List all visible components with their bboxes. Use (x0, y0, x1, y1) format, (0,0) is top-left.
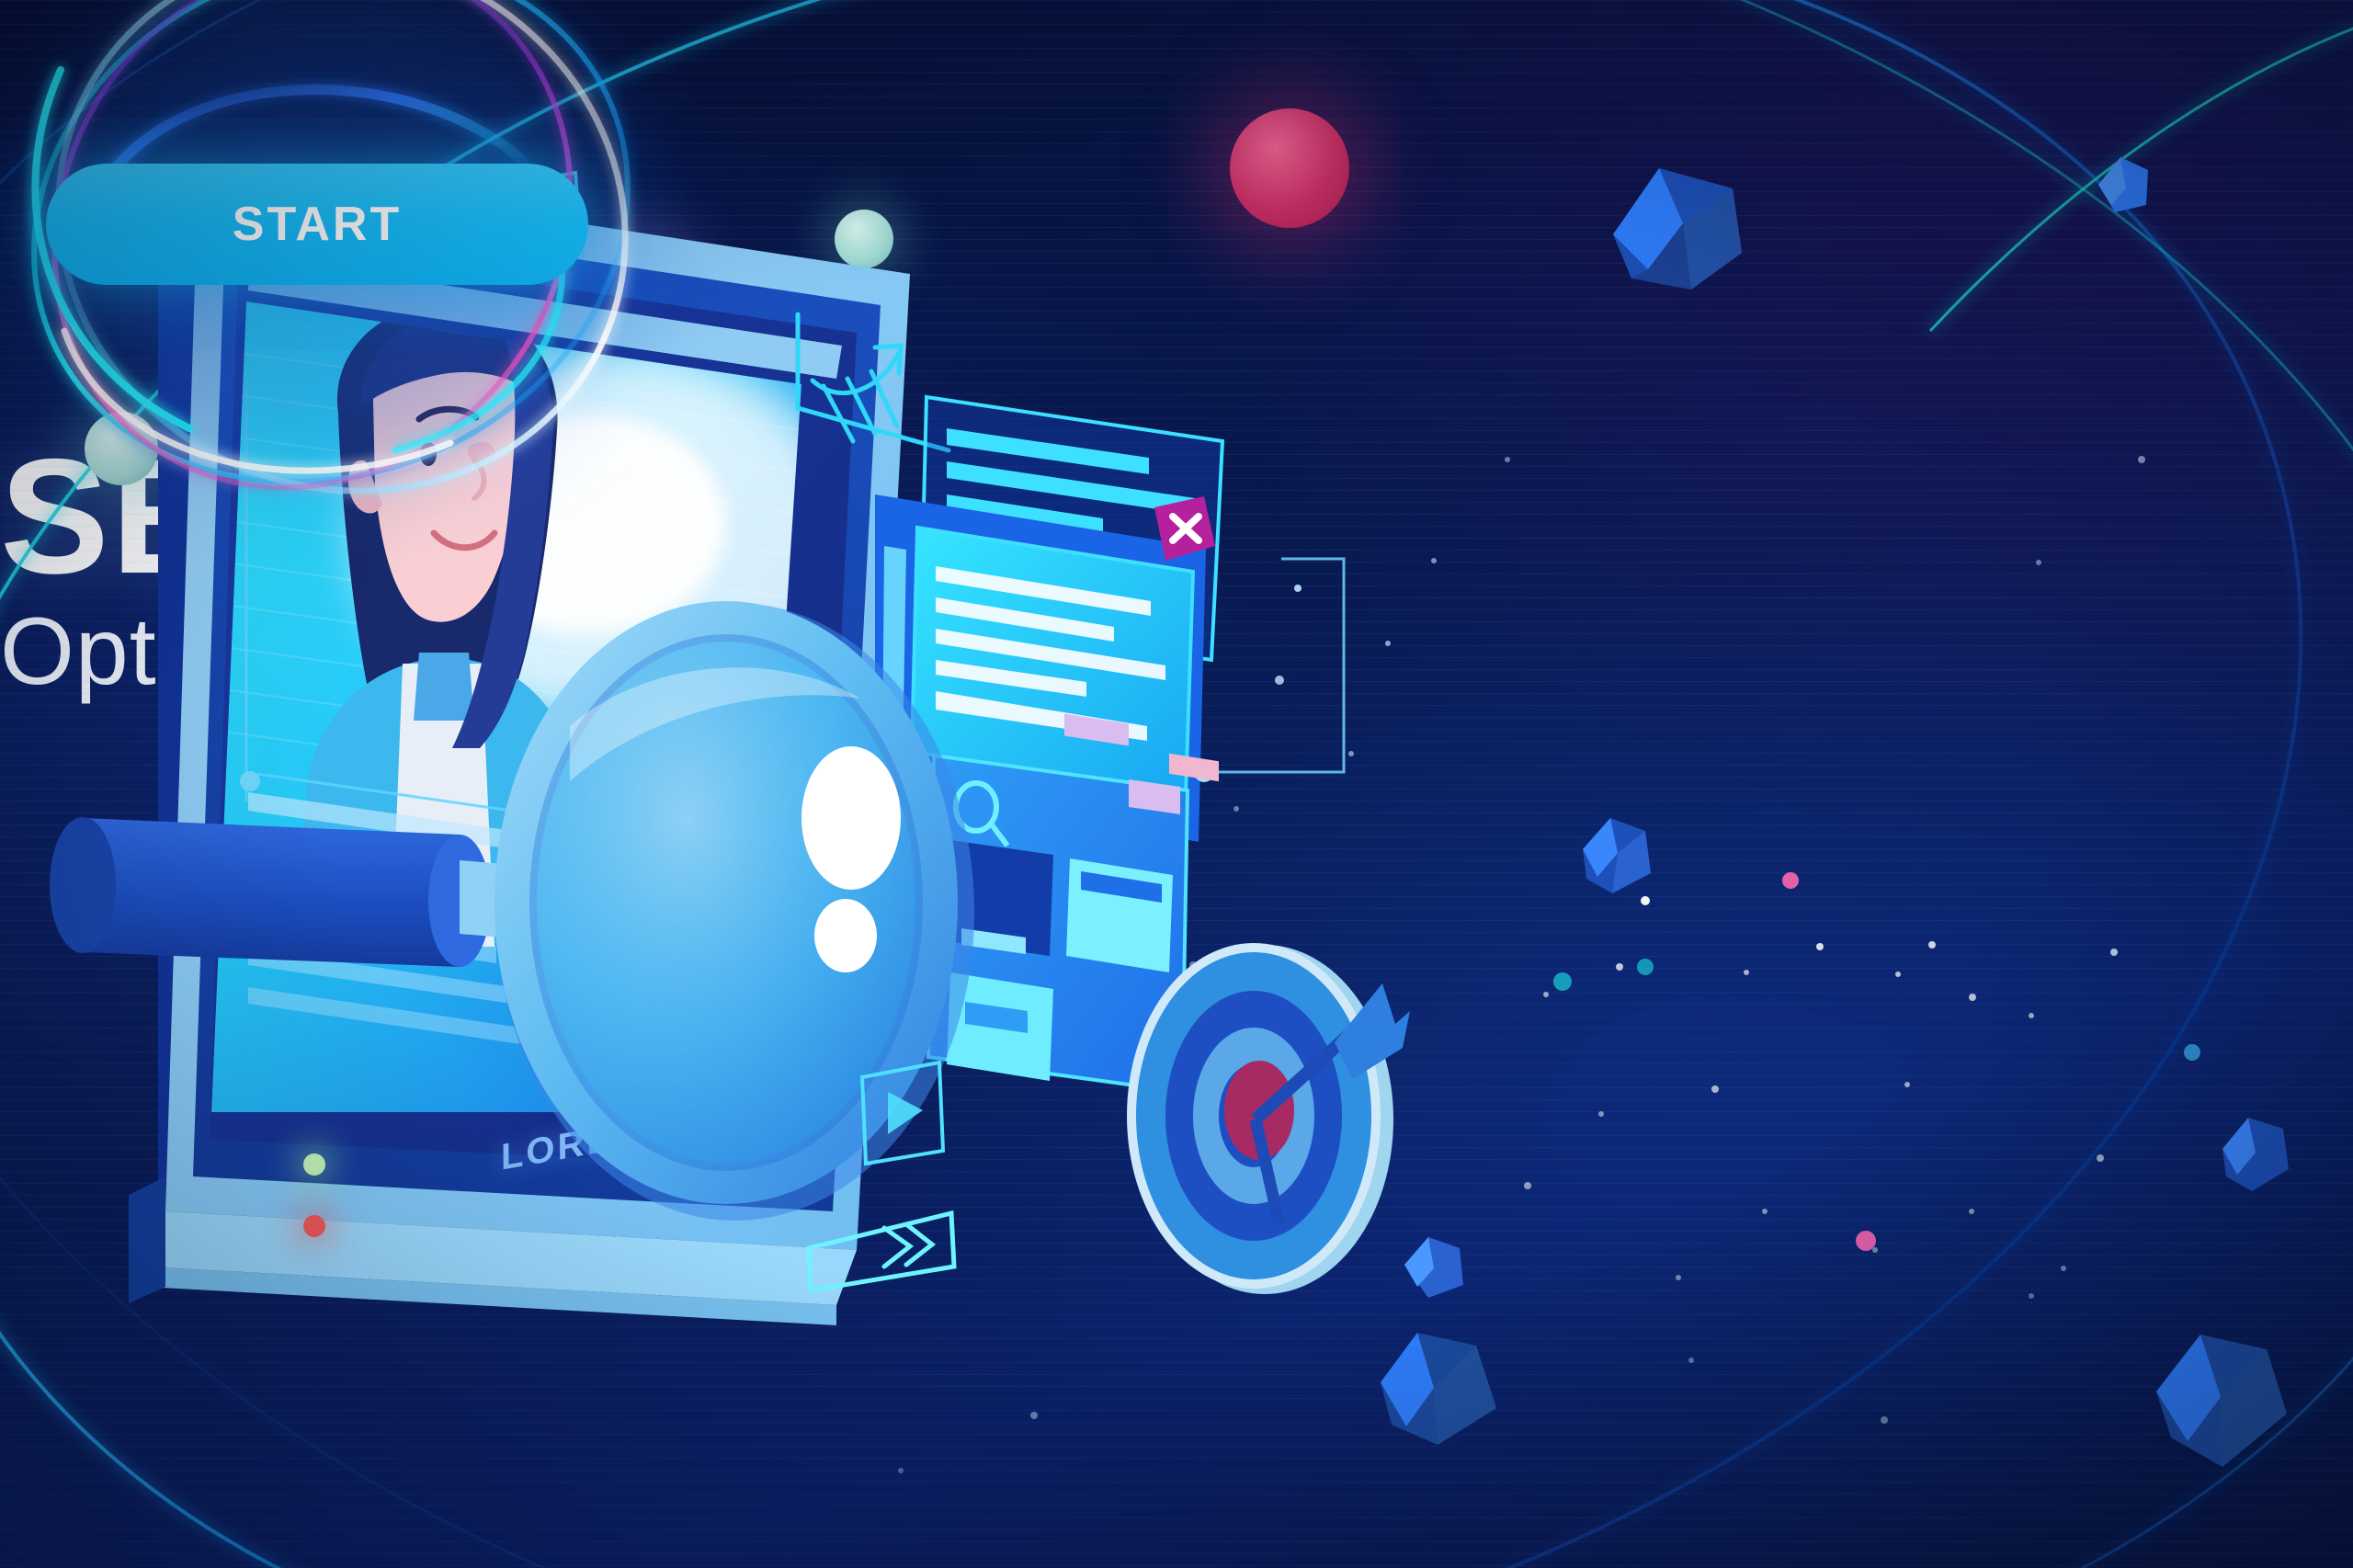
seo-landing-banner: LOREM IPSUM (0, 0, 2353, 1568)
target-dartboard-icon[interactable] (1099, 939, 1412, 1298)
start-cta-group: START (0, 0, 680, 441)
next-chevrons-icon[interactable] (781, 1195, 1029, 1342)
start-button[interactable]: START (46, 164, 588, 285)
play-triangle-icon[interactable] (855, 1055, 956, 1175)
magnifying-glass[interactable] (92, 588, 974, 1287)
